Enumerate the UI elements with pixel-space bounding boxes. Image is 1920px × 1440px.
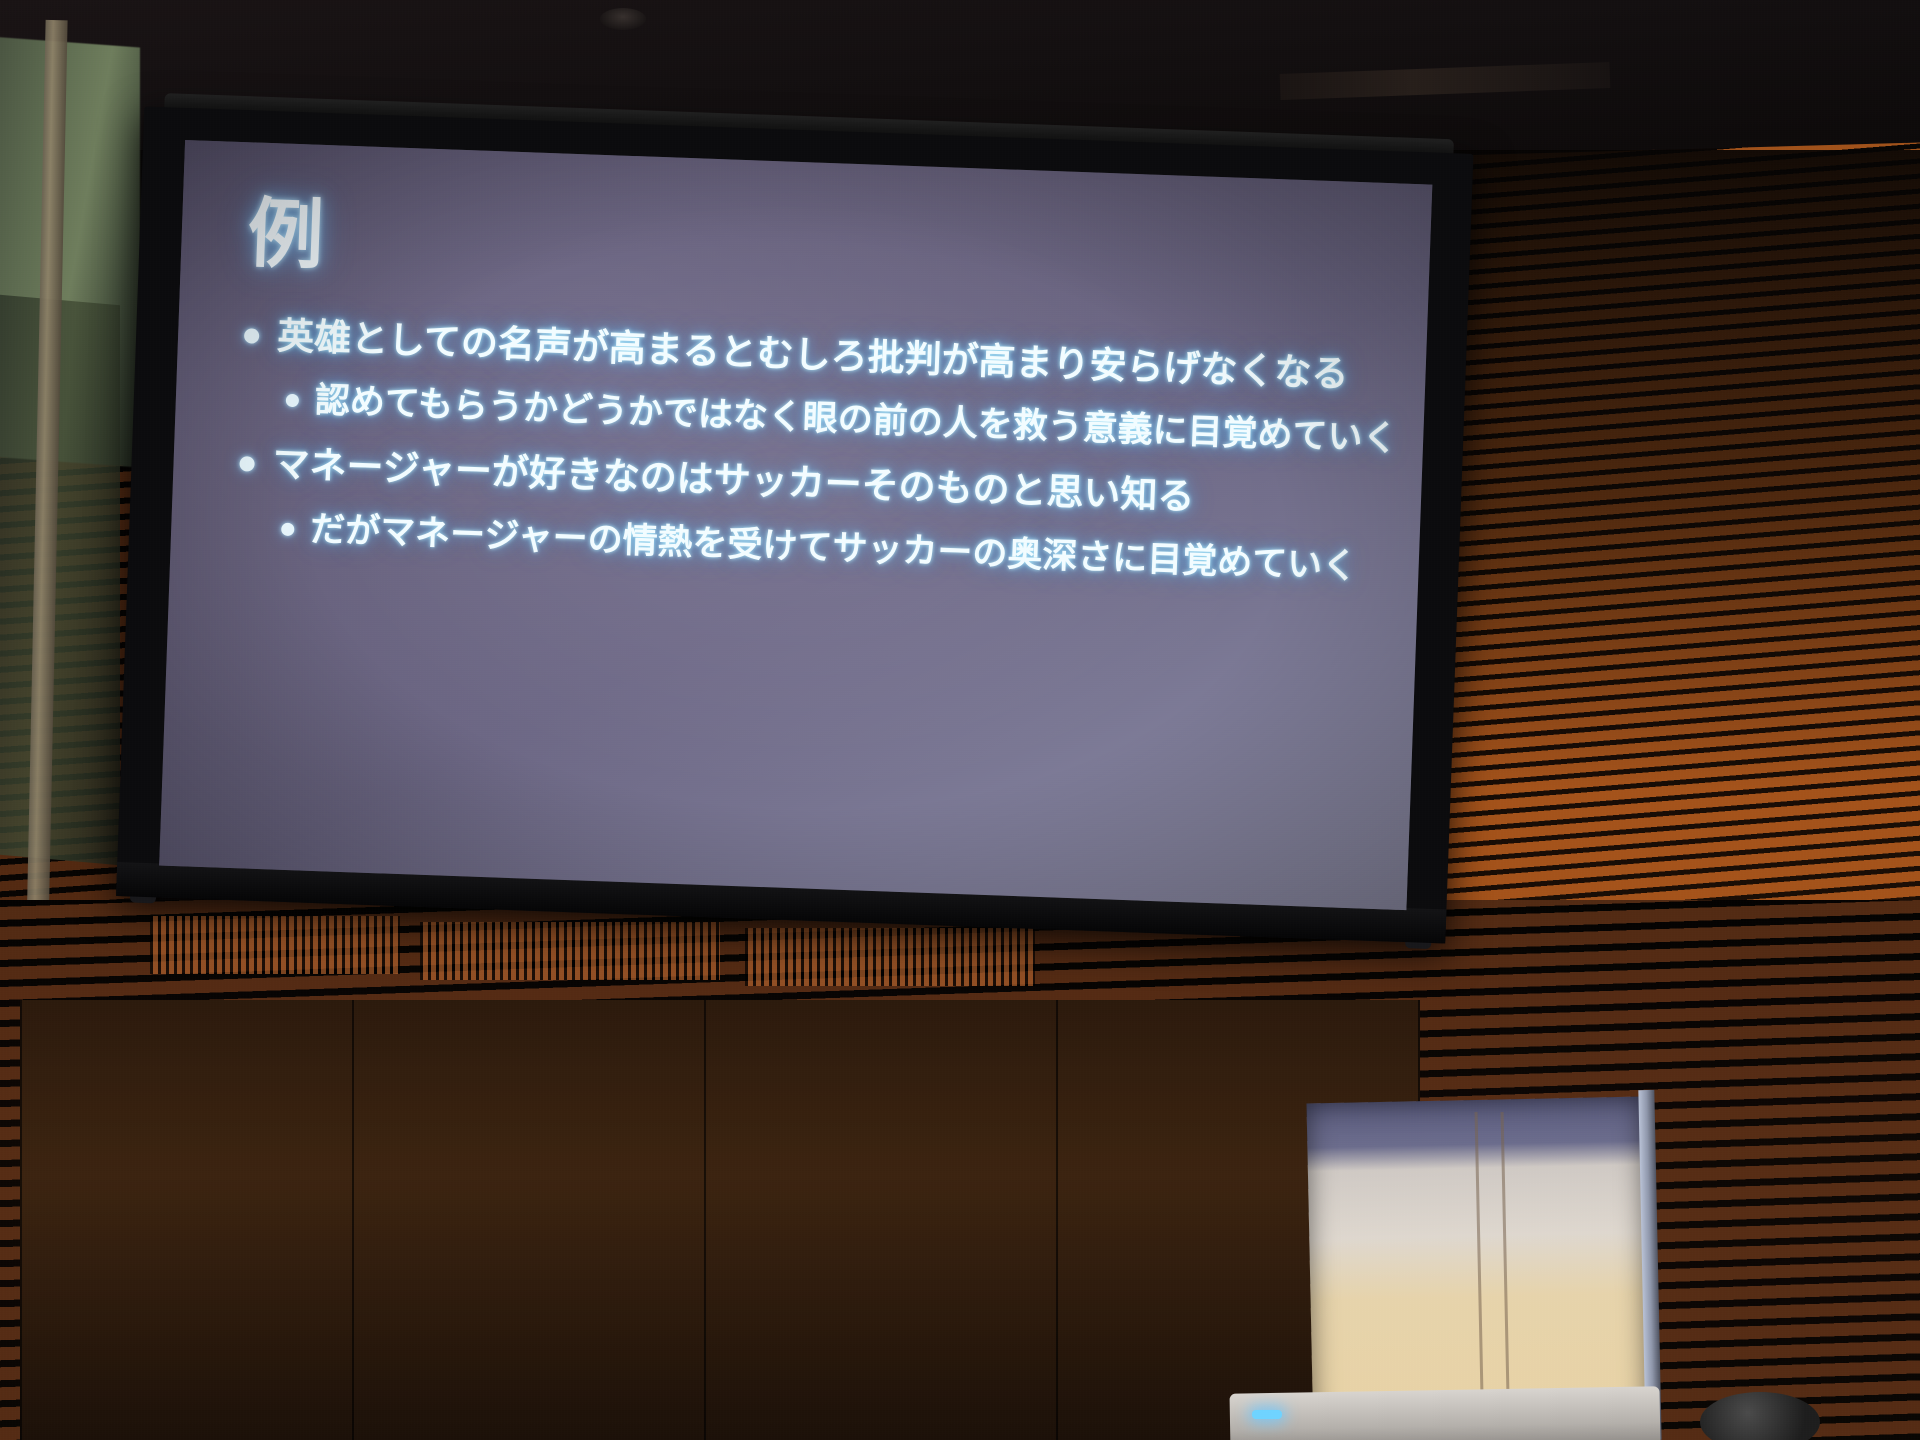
- bullet-dot-icon: [239, 456, 255, 472]
- ceiling-light-icon: [600, 8, 646, 30]
- slide-bullet-list: 英雄としての名声が高まるとむしろ批判が高まり安らげなくなる 認めてもらうかどうか…: [236, 310, 1370, 591]
- wall-panel: [20, 1000, 354, 1440]
- screen-surface: 例 英雄としての名声が高まるとむしろ批判が高まり安らげなくなる 認めてもらうかど…: [159, 140, 1432, 910]
- projector-device: [1230, 1386, 1661, 1440]
- photo-scene: 例 英雄としての名声が高まるとむしろ批判が高まり安らげなくなる 認めてもらうかど…: [0, 0, 1920, 1440]
- slide-title: 例: [246, 194, 1374, 312]
- wall-panel: [704, 1000, 1058, 1440]
- screen-frame: 例 英雄としての名声が高まるとむしろ批判が高まり安らげなくなる 認めてもらうかど…: [116, 106, 1473, 943]
- wall-vent-strip: [745, 928, 1035, 986]
- wall-panel: [352, 1000, 706, 1440]
- wall-vent-strip: [420, 922, 720, 980]
- projection-screen: 例 英雄としての名声が高まるとむしろ批判が高まり安らげなくなる 認めてもらうかど…: [116, 94, 1474, 941]
- bullet-dot-icon: [244, 328, 260, 344]
- bullet-dot-icon: [286, 394, 299, 407]
- slide: 例 英雄としての名声が高まるとむしろ批判が高まり安らげなくなる 認めてもらうかど…: [159, 140, 1432, 910]
- bullet-dot-icon: [281, 522, 294, 535]
- power-led-icon: [1252, 1410, 1282, 1419]
- wall-vent-strip: [150, 916, 400, 974]
